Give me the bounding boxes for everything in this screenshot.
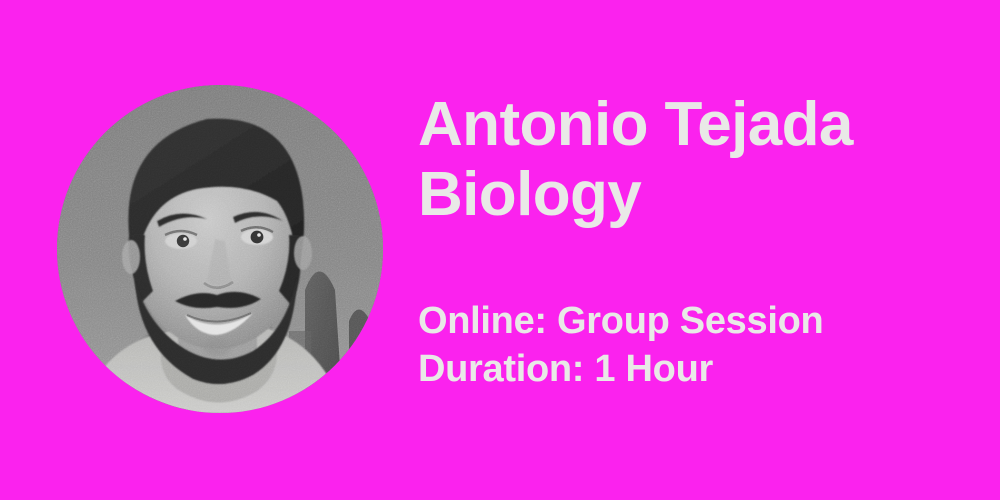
- instructor-subject: Biology: [418, 160, 853, 230]
- instructor-portrait-image: [57, 85, 383, 413]
- session-text-block: Antonio Tejada Biology Online: Group Ses…: [418, 0, 978, 500]
- instructor-name: Antonio Tejada: [418, 90, 853, 160]
- avatar: [57, 85, 383, 413]
- instructor-heading: Antonio Tejada Biology: [418, 90, 853, 230]
- session-format: Online: Group Session: [418, 297, 823, 345]
- session-details: Online: Group Session Duration: 1 Hour: [418, 297, 823, 393]
- instructor-session-card: Antonio Tejada Biology Online: Group Ses…: [0, 0, 1000, 500]
- session-duration: Duration: 1 Hour: [418, 345, 823, 393]
